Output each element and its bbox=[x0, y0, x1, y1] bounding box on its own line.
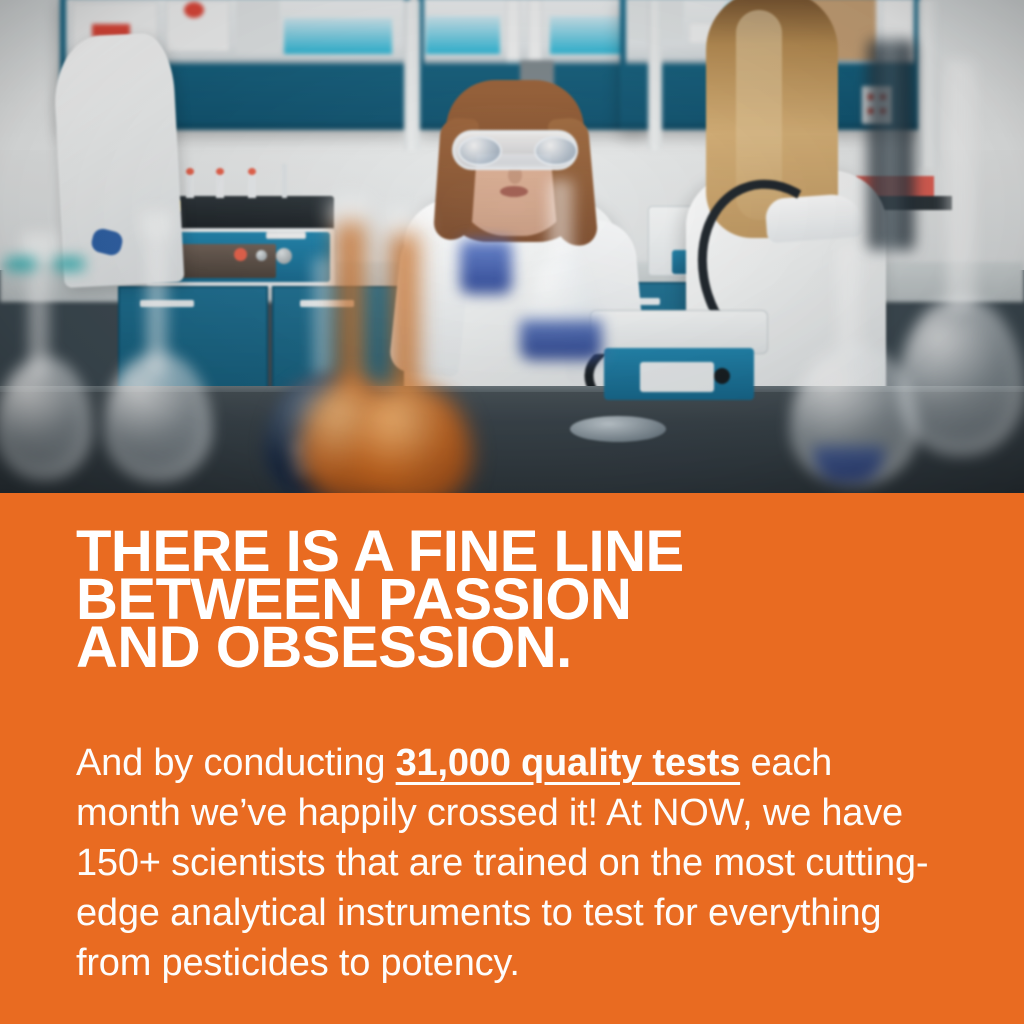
scientist-center-mouth bbox=[500, 186, 528, 197]
blue-liquid bbox=[520, 320, 602, 360]
social-media-card: 500 bbox=[0, 0, 1024, 1024]
volumetric-flask-right-b bbox=[898, 296, 1024, 456]
stat-quality-tests: 31,000 quality tests bbox=[396, 742, 741, 784]
petri-dish bbox=[570, 416, 666, 442]
body-copy: And by conducting 31,000 quality tests e… bbox=[76, 738, 940, 988]
wall-column-right bbox=[648, 0, 662, 150]
indicator-light-red bbox=[234, 248, 247, 261]
goggles-lens-right bbox=[534, 136, 578, 166]
body-copy-part1: And by conducting bbox=[76, 742, 396, 784]
wall-column-far-right bbox=[918, 0, 940, 168]
gas-cylinder bbox=[868, 40, 914, 250]
wall-column-left bbox=[404, 0, 420, 150]
volumetric-flask-left bbox=[0, 356, 92, 480]
headline: THERE IS A FINE LINE BETWEEN PASSION AND… bbox=[76, 528, 956, 672]
flask-graduation-mark bbox=[6, 258, 36, 270]
laboratory-photo: 500 bbox=[0, 0, 1024, 493]
blue-liquid-bottle bbox=[460, 240, 512, 294]
goggles-lens-left bbox=[458, 136, 502, 166]
